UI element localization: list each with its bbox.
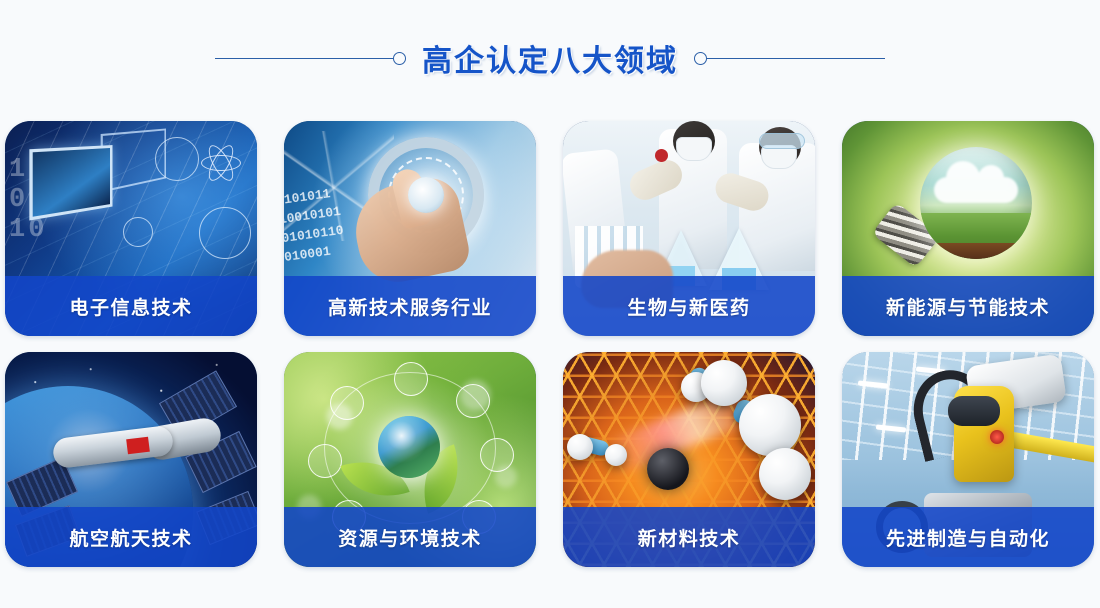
page-title-banner: 高企认定八大领域	[0, 30, 1100, 86]
card-label-bar: 先进制造与自动化	[842, 507, 1094, 567]
domain-card-biology-and-new-medicine[interactable]: 生物与新医药	[563, 121, 815, 336]
molecule-atom-icon	[759, 448, 811, 500]
robot-joint-icon	[948, 396, 1000, 426]
domain-card-advanced-manufacturing-and-automation[interactable]: 先进制造与自动化	[842, 352, 1094, 567]
card-label-bar: 新能源与节能技术	[842, 276, 1094, 336]
atom-icon	[201, 143, 241, 183]
card-label-bar: 新材料技术	[563, 507, 815, 567]
card-title: 航空航天技术	[69, 524, 192, 551]
domain-card-resources-and-environment-technology[interactable]: 资源与环境技术	[284, 352, 536, 567]
card-title: 生物与新医药	[627, 293, 750, 320]
card-label-bar: 生物与新医药	[563, 276, 815, 336]
domain-card-new-energy-and-energy-saving-technology[interactable]: 新能源与节能技术	[842, 121, 1094, 336]
glow-core-icon	[408, 177, 444, 213]
globe-icon	[378, 416, 440, 478]
network-node-icon	[155, 137, 199, 181]
molecule-atom-icon	[567, 434, 593, 460]
card-label-bar: 资源与环境技术	[284, 507, 536, 567]
wind-turbine-node-icon	[330, 386, 364, 420]
card-label-bar: 高新技术服务行业	[284, 276, 536, 336]
page-title: 高企认定八大领域	[406, 36, 694, 80]
molecule-atom-icon	[701, 360, 747, 406]
safety-goggles-icon	[759, 133, 805, 149]
card-label-bar: 电子信息技术	[5, 276, 257, 336]
network-node-icon	[123, 217, 153, 247]
face-mask-icon	[676, 137, 712, 161]
title-rule-left	[215, 58, 393, 59]
monitor-icon	[29, 145, 112, 220]
card-title: 电子信息技术	[69, 293, 192, 320]
card-title: 高新技术服务行业	[328, 293, 492, 320]
molecule-atom-icon	[605, 444, 627, 466]
title-rule-right	[707, 58, 885, 59]
domain-card-new-materials-technology[interactable]: 新材料技术	[563, 352, 815, 567]
power-tower-node-icon	[480, 438, 514, 472]
red-cap-icon	[655, 149, 668, 162]
binary-code-icon: 01010111001010101010110010001	[284, 183, 347, 267]
soil-icon	[920, 243, 1032, 259]
card-title: 资源与环境技术	[338, 524, 482, 551]
card-title: 先进制造与自动化	[886, 524, 1050, 551]
card-title: 新材料技术	[638, 524, 741, 551]
flag-icon	[126, 437, 150, 455]
oil-pump-node-icon	[456, 384, 490, 418]
card-label-bar: 航空航天技术	[5, 507, 257, 567]
domain-card-electronic-information-technology[interactable]: 100510 电子信息技术	[5, 121, 257, 336]
domain-card-grid: 100510 电子信息技术 01010111001010101010110010…	[5, 121, 1095, 567]
domain-card-aerospace-technology[interactable]: 航空航天技术	[5, 352, 257, 567]
domain-card-high-tech-service-industry[interactable]: 01010111001010101010110010001 高新技术服务行业	[284, 121, 536, 336]
network-node-icon	[199, 207, 251, 259]
cloud-icon	[934, 177, 1018, 203]
page-root: 高企认定八大领域 100510 电子信息技术 01010111	[0, 0, 1100, 608]
battery-node-icon	[308, 444, 342, 478]
molecule-atom-icon	[739, 394, 801, 456]
light-bulb-icon	[920, 147, 1032, 259]
circle-marker-right-icon	[694, 52, 707, 65]
circle-marker-left-icon	[393, 52, 406, 65]
card-title: 新能源与节能技术	[886, 293, 1050, 320]
dark-particle-icon	[647, 448, 689, 490]
sun-node-icon	[394, 362, 428, 396]
status-light-icon	[990, 430, 1004, 444]
